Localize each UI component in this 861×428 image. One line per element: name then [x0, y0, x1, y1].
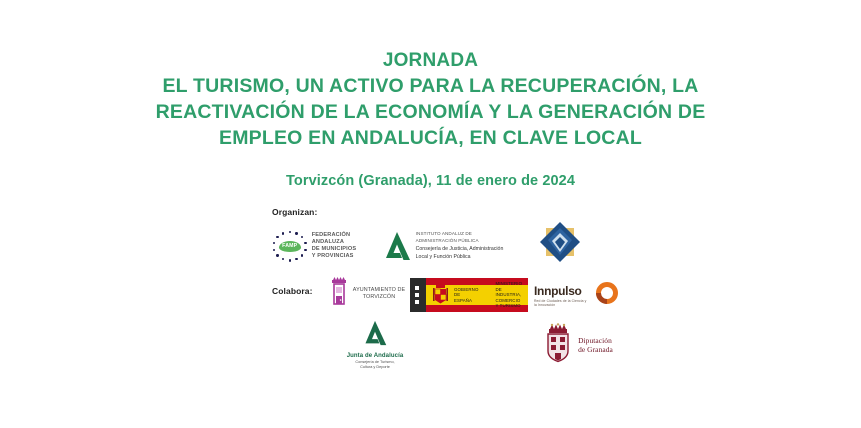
famp-text-block: FEDERACIÓN ANDALUZA DE MUNICIPIOS Y PROV…: [312, 232, 357, 261]
gobierno-text-block: GOBIERNO DE ESPAÑA: [454, 287, 478, 304]
iaap-line-3: Consejería de Justicia, Administración: [416, 246, 504, 253]
diputacion-line-2: de Granada: [578, 345, 613, 354]
ayuntamiento-line-2: TORVIZCÓN: [353, 294, 405, 301]
famp-line-2: ANDALUZA: [312, 239, 357, 246]
collaborators-label: Colabora:: [272, 286, 313, 296]
innpulso-ring-icon: [596, 282, 618, 309]
event-location-date: Torvizcón (Granada), 11 de enero de 2024: [286, 173, 575, 189]
escudo-espana-icon: [432, 282, 449, 309]
flag-black-bar: [410, 278, 426, 312]
famp-line-1: FEDERACIÓN: [312, 232, 357, 239]
event-poster: JORNADA EL TURISMO, UN ACTIVO PARA LA RE…: [0, 0, 861, 428]
organizers-label: Organizan:: [272, 207, 317, 217]
junta-name: Junta de Andalucía: [347, 353, 404, 359]
diputacion-line-1: Diputación: [578, 336, 613, 345]
iaap-line-1: INSTITUTO ANDALUZ DE: [416, 231, 504, 238]
junta-a-icon: [362, 320, 388, 351]
logo-innpulso: Innpulso Red de Ciudades de la Ciencia y…: [534, 279, 618, 311]
gobierno-line-2: DE ESPAÑA: [454, 292, 478, 303]
ayuntamiento-line-1: AYUNTAMIENTO DE: [353, 287, 405, 294]
title-line-3: REACTIVACIÓN DE LA ECONOMÍA Y LA GENERAC…: [0, 99, 861, 125]
iaap-text-block: INSTITUTO ANDALUZ DE ADMINISTRACIÓN PÚBL…: [416, 231, 504, 260]
iaap-line-4: Local y Función Pública: [416, 254, 504, 261]
innpulso-text-block: Innpulso Red de Ciudades de la Ciencia y…: [534, 284, 590, 307]
famp-wordmark: FAMP: [279, 241, 301, 252]
granada-coat-of-arms-icon: [543, 323, 573, 368]
ministerio-line-2: DE INDUSTRIA, COMERCIO: [495, 287, 528, 304]
junta-consejeria-line-2: Cultura y Deporte: [355, 365, 394, 370]
torvizcon-coat-of-arms-icon: [329, 277, 349, 312]
logo-diputacion-granada: Diputación de Granada: [528, 319, 628, 371]
logo-gobierno-espana: GOBIERNO DE ESPAÑA MINISTERIO DE INDUSTR…: [408, 277, 530, 313]
logos-area: Organizan:: [0, 201, 861, 416]
logo-famp: FAMP FEDERACIÓN ANDALUZA DE MUNICIPIOS Y…: [268, 225, 360, 267]
logo-ayuntamiento-torvizcon: AYUNTAMIENTO DE TORVIZCÓN: [326, 275, 408, 313]
title-line-1: JORNADA: [0, 48, 861, 73]
ayuntamiento-text-block: AYUNTAMIENTO DE TORVIZCÓN: [353, 287, 405, 301]
junta-consejeria: Consejería de Turismo, Cultura y Deporte: [355, 360, 394, 370]
junta-andalucia-a-icon: [383, 231, 411, 261]
famp-line-3: DE MUNICIPIOS: [312, 246, 357, 253]
diamond-shield-icon: [539, 221, 581, 263]
spanish-flag-banner: GOBIERNO DE ESPAÑA MINISTERIO DE INDUSTR…: [410, 278, 528, 312]
title-line-2: EL TURISMO, UN ACTIVO PARA LA RECUPERACI…: [0, 73, 861, 99]
famp-star-ring-icon: FAMP: [272, 231, 308, 261]
innpulso-tagline: Red de Ciudades de la Ciencia y la Innov…: [534, 299, 590, 307]
innpulso-wordmark: Innpulso: [534, 284, 590, 298]
page-title: JORNADA EL TURISMO, UN ACTIVO PARA LA RE…: [0, 48, 861, 151]
logo-junta-andalucia: Junta de Andalucía Consejería de Turismo…: [330, 321, 420, 369]
diputacion-text-block: Diputación de Granada: [578, 336, 613, 354]
logo-iaap: INSTITUTO ANDALUZ DE ADMINISTRACIÓN PÚBL…: [378, 225, 508, 267]
ministerio-text-block: MINISTERIO DE INDUSTRIA, COMERCIO Y TURI…: [495, 281, 528, 309]
logo-emblem: [535, 217, 585, 267]
iaap-line-2: ADMINISTRACIÓN PÚBLICA: [416, 238, 504, 245]
ministerio-line-3: Y TURISMO: [495, 303, 528, 309]
title-line-4: EMPLEO EN ANDALUCÍA, EN CLAVE LOCAL: [0, 125, 861, 151]
famp-line-4: Y PROVINCIAS: [312, 253, 357, 260]
